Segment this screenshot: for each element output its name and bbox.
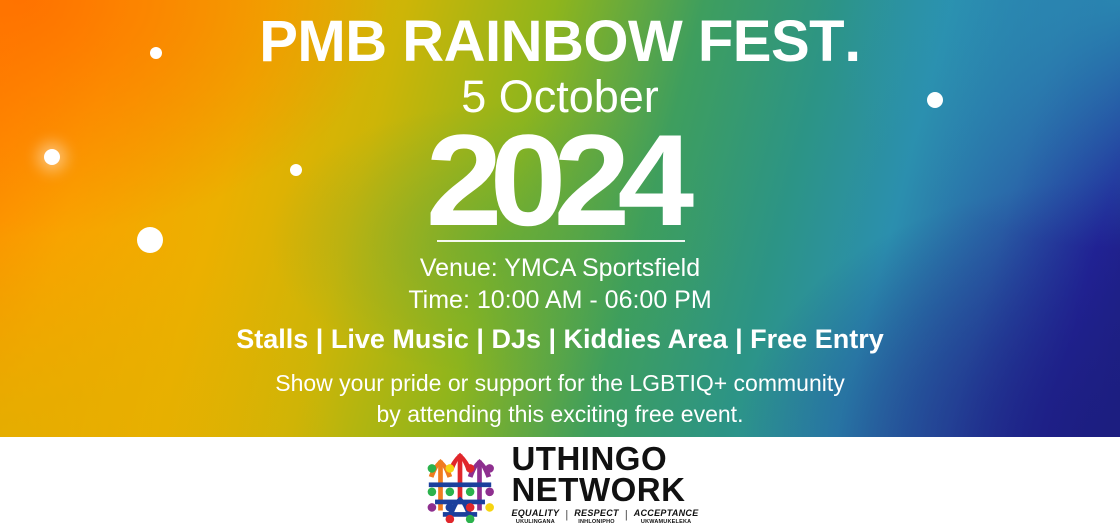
- poster-content: PMB RAINBOW FEST. 5 October 2024 Venue: …: [0, 0, 1120, 437]
- description-line-1: Show your pride or support for the LGBTI…: [0, 368, 1120, 399]
- tagline-zu: UKULINGANA: [516, 519, 555, 526]
- logo-line-2: NETWORK: [511, 474, 698, 506]
- tagline-en: EQUALITY: [511, 509, 559, 519]
- venue-line: Venue: YMCA Sportsfield: [0, 253, 1120, 285]
- venue-time-block: Venue: YMCA Sportsfield Time: 10:00 AM -…: [0, 253, 1120, 316]
- time-line: Time: 10:00 AM - 06:00 PM: [0, 285, 1120, 317]
- event-title: PMB RAINBOW FEST.: [0, 8, 1120, 73]
- features-line: Stalls | Live Music | DJs | Kiddies Area…: [0, 324, 1120, 355]
- tagline-en: ACCEPTANCE: [634, 509, 699, 519]
- uthingo-people-grid-icon: [421, 445, 499, 523]
- tagline-item-acceptance: ACCEPTANCEUKWAMUKELEKA: [634, 509, 699, 525]
- tagline-separator-2: |: [625, 509, 628, 521]
- tagline-zu: INHLONIPHO: [578, 519, 615, 526]
- footer-bar: UTHINGO NETWORK EQUALITYUKULINGANA|RESPE…: [0, 437, 1120, 531]
- description-line-2: by attending this exciting free event.: [0, 399, 1120, 430]
- description-block: Show your pride or support for the LGBTI…: [0, 368, 1120, 430]
- tagline-separator-1: |: [565, 509, 568, 521]
- event-title-text: PMB RAINBOW FEST: [259, 9, 844, 74]
- divider-rule: [437, 240, 685, 242]
- tagline-zu: UKWAMUKELEKA: [641, 519, 691, 526]
- uthingo-logo[interactable]: UTHINGO NETWORK EQUALITYUKULINGANA|RESPE…: [421, 443, 698, 526]
- tagline-en: RESPECT: [574, 509, 619, 519]
- event-year: 2024: [0, 115, 1120, 245]
- logo-line-1: UTHINGO: [511, 443, 698, 475]
- tagline-item-equality: EQUALITYUKULINGANA: [511, 509, 559, 525]
- poster-canvas: PMB RAINBOW FEST. 5 October 2024 Venue: …: [0, 0, 1120, 531]
- tagline-item-respect: RESPECTINHLONIPHO: [574, 509, 619, 525]
- title-period: .: [844, 6, 861, 75]
- logo-tagline: EQUALITYUKULINGANA|RESPECTINHLONIPHO|ACC…: [511, 509, 698, 525]
- uthingo-logo-text: UTHINGO NETWORK EQUALITYUKULINGANA|RESPE…: [511, 443, 698, 526]
